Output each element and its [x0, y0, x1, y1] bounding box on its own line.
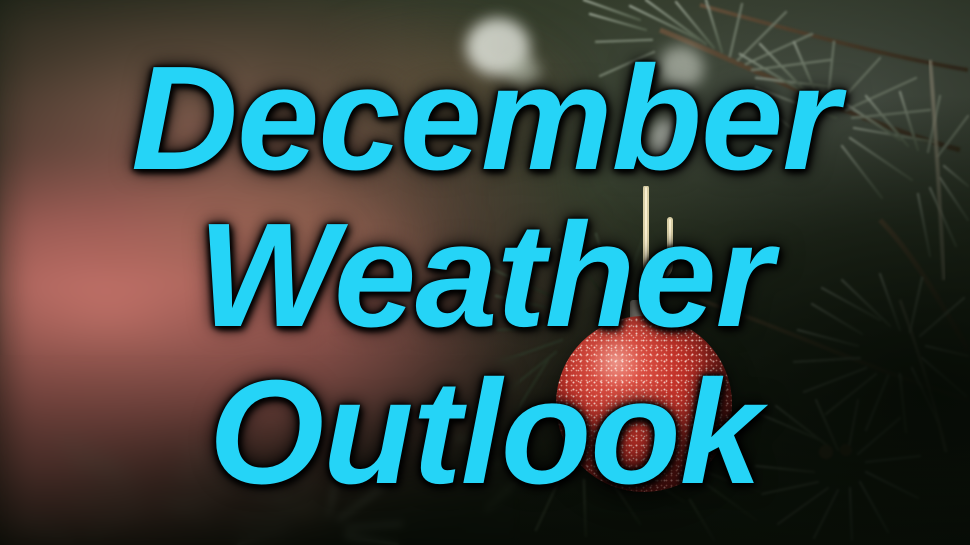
red-glitter-ornament: [556, 316, 732, 492]
ornament-hook-icon: [636, 186, 680, 308]
ornament-glitter-texture: [556, 316, 732, 492]
thumbnail-canvas: December Weather Outlook: [0, 0, 970, 545]
background-blur-bottom-left: [0, 355, 520, 545]
